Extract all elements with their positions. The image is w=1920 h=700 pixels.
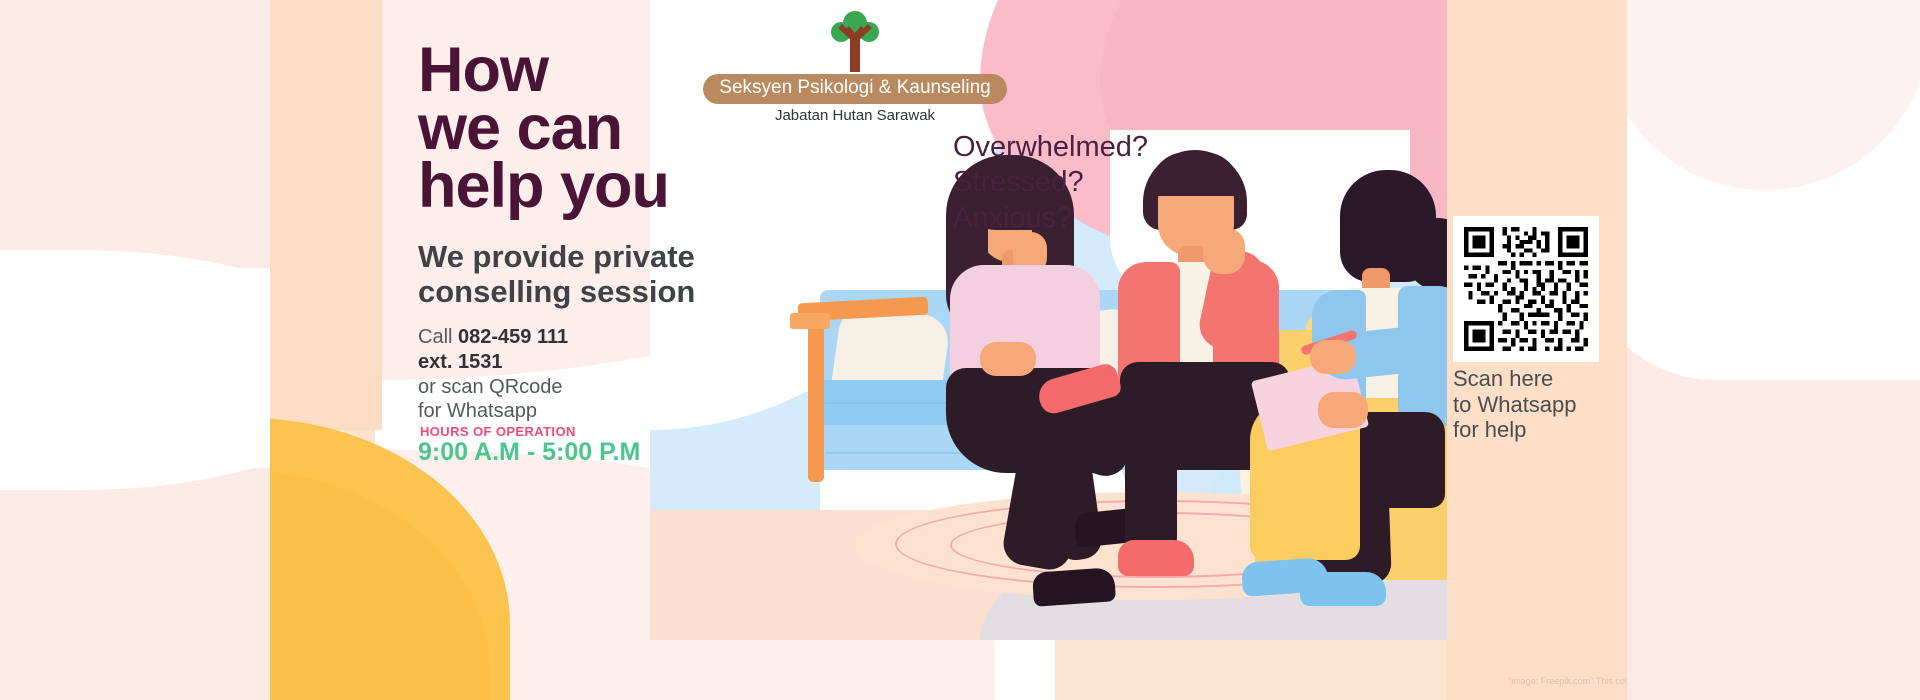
phone-extension: ext. 1531 — [418, 350, 748, 375]
call-prefix: Call — [418, 326, 458, 348]
scan-caption-line-3: for help — [1453, 417, 1623, 443]
qr-code-icon[interactable] — [1464, 227, 1588, 351]
subheadline: We provide private conselling session — [418, 240, 838, 309]
subheadline-line-1: We provide private — [418, 240, 838, 275]
sofa-armrest-cap — [790, 313, 830, 329]
worry-line-3: Anxious? — [953, 201, 1148, 236]
logo-subtitle: Jabatan Hutan Sarawak — [695, 107, 1015, 124]
contact-block: Call 082-459 111 ext. 1531 or scan QRcod… — [418, 325, 748, 424]
hours-value: 9:00 A.M - 5:00 P.M — [418, 438, 640, 467]
person-man-hand — [1203, 228, 1245, 274]
contact-line-3: or scan QRcode — [418, 375, 748, 400]
scan-caption-line-1: Scan here — [1453, 366, 1623, 392]
person-man-shin — [1125, 420, 1177, 560]
person-woman-left-hand — [980, 342, 1036, 376]
person-counselor-hand-board — [1318, 392, 1368, 428]
scan-caption: Scan here to Whatsapp for help — [1453, 366, 1623, 443]
person-man-shoe-2 — [1118, 540, 1194, 576]
organization-logo: Seksyen Psikologi & Kaunseling Jabatan H… — [695, 10, 1015, 124]
person-counselor-hair — [1340, 170, 1436, 282]
scan-caption-line-2: to Whatsapp — [1453, 392, 1623, 418]
qr-code-container[interactable] — [1453, 216, 1599, 362]
person-woman-left-shoe-2 — [1032, 567, 1116, 607]
contact-phone-row: Call 082-459 111 — [418, 325, 748, 350]
worry-questions: Overwhelmed? Stressed? Anxious? — [953, 130, 1148, 236]
tree-icon — [822, 10, 888, 74]
person-counselor-hand-pen — [1310, 340, 1356, 374]
worry-line-2: Stressed? — [953, 165, 1148, 200]
poster-card: How we can help you We provide private c… — [270, 0, 1627, 700]
poster-left-peach-band — [270, 0, 382, 430]
poster-stage: How we can help you We provide private c… — [0, 0, 1920, 700]
worry-line-1: Overwhelmed? — [953, 130, 1148, 165]
logo-title: Seksyen Psikologi & Kaunseling — [703, 74, 1006, 104]
phone-number[interactable]: 082-459 111 — [458, 326, 568, 348]
contact-line-4: for Whatsapp — [418, 399, 748, 424]
subheadline-line-2: conselling session — [418, 275, 838, 310]
sofa-leg — [808, 322, 824, 482]
person-counselor-shoe-2 — [1300, 572, 1386, 606]
hours-label: HOURS OF OPERATION — [420, 424, 576, 439]
headline-line-3: help you — [418, 158, 838, 216]
image-credit: "image: Freepik.com" This cover has been… — [1508, 676, 1627, 686]
